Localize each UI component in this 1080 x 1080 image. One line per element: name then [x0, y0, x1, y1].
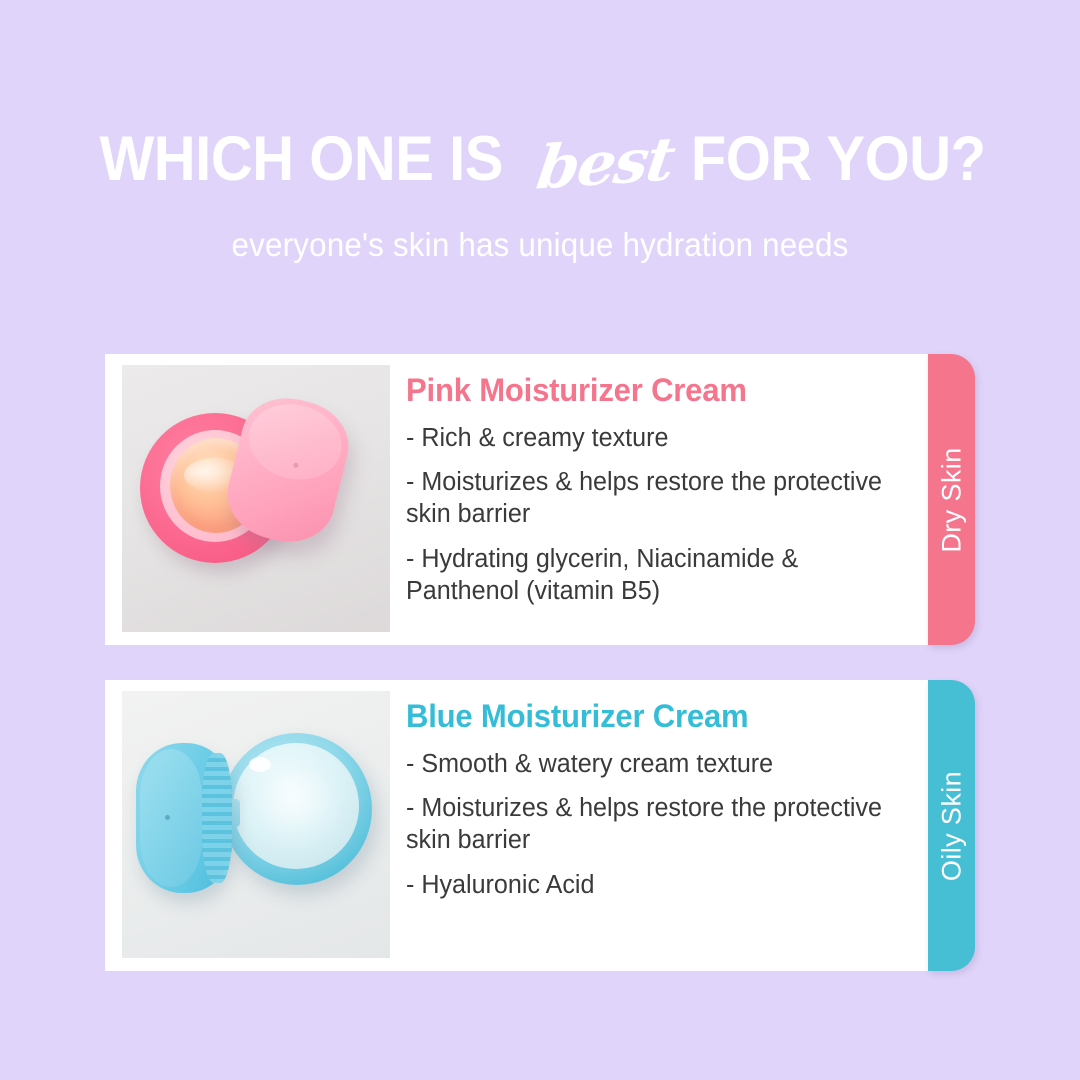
- list-item: - Hyaluronic Acid: [406, 869, 902, 901]
- page-title: WHICH ONE ISbestFOR YOU?: [0, 128, 1080, 202]
- page-subtitle: everyone's skin has unique hydration nee…: [27, 226, 1053, 264]
- blue-lid-face: [140, 749, 202, 887]
- card-body: Pink Moisturizer Cream - Rich & creamy t…: [105, 354, 928, 645]
- blue-lid-ridges: [202, 753, 232, 883]
- feature-list-blue: - Smooth & watery cream texture - Moistu…: [406, 748, 910, 902]
- blue-lid-dot: [165, 815, 170, 820]
- card-text-blue: Blue Moisturizer Cream - Smooth & watery…: [390, 680, 928, 901]
- product-image-blue: [122, 691, 390, 958]
- skin-type-tab-label: Oily Skin: [936, 770, 967, 880]
- list-item: - Moisturizes & helps restore the protec…: [406, 792, 902, 857]
- list-item: - Hydrating glycerin, Niacinamide & Pant…: [406, 543, 902, 608]
- header: WHICH ONE ISbestFOR YOU? everyone's skin…: [0, 128, 1080, 264]
- product-card-blue[interactable]: Blue Moisturizer Cream - Smooth & watery…: [105, 680, 975, 971]
- product-card-pink[interactable]: Pink Moisturizer Cream - Rich & creamy t…: [105, 354, 975, 645]
- blue-jar-rim: [233, 743, 359, 869]
- card-title-pink: Pink Moisturizer Cream: [406, 374, 895, 408]
- list-item: - Rich & creamy texture: [406, 422, 902, 454]
- skin-type-tab-oily[interactable]: Oily Skin: [928, 680, 975, 971]
- pink-lid-top: [240, 395, 349, 490]
- headline-part-1: WHICH ONE IS: [99, 128, 502, 191]
- list-item: - Smooth & watery cream texture: [406, 748, 902, 780]
- product-image-pink: [122, 365, 390, 632]
- headline-part-2: FOR YOU?: [691, 128, 986, 191]
- blue-jar-lid-icon: [136, 743, 232, 893]
- poster-canvas: WHICH ONE ISbestFOR YOU? everyone's skin…: [0, 0, 1080, 1080]
- blue-jar-base-icon: [222, 733, 372, 885]
- card-title-blue: Blue Moisturizer Cream: [406, 700, 895, 734]
- skin-type-tab-label: Dry Skin: [936, 447, 967, 552]
- feature-list-pink: - Rich & creamy texture - Moisturizes & …: [406, 422, 910, 608]
- card-text-pink: Pink Moisturizer Cream - Rich & creamy t…: [390, 354, 928, 607]
- card-body: Blue Moisturizer Cream - Smooth & watery…: [105, 680, 928, 971]
- list-item: - Moisturizes & helps restore the protec…: [406, 466, 902, 531]
- blue-gel-surface: [257, 769, 341, 851]
- skin-type-tab-dry[interactable]: Dry Skin: [928, 354, 975, 645]
- headline-script-word: best: [533, 129, 677, 198]
